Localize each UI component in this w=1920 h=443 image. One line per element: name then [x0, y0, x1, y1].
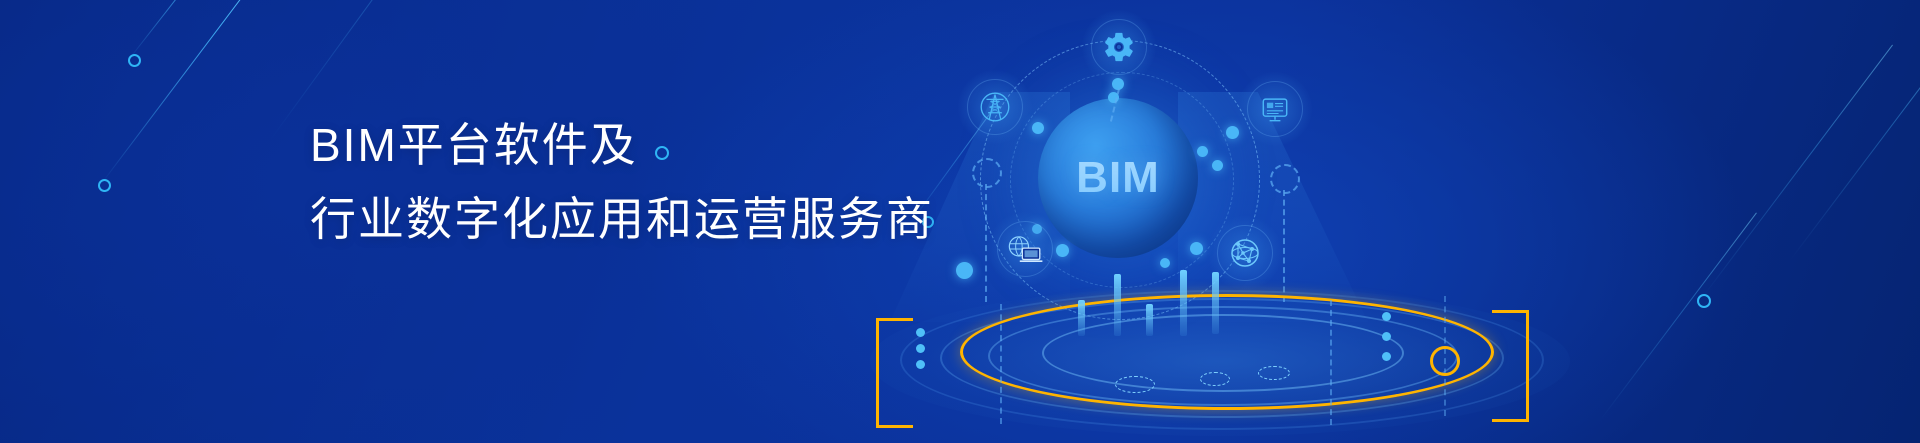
monitor-icon [1257, 91, 1293, 127]
node-globe-connector-dot [1056, 244, 1069, 257]
node-power-tower[interactable] [958, 70, 1032, 144]
hero-banner: BIM平台软件及 行业数字化应用和运营服务商 BIM [0, 0, 1920, 443]
vertical-dash-left [1000, 304, 1002, 424]
data-bar-5 [1212, 272, 1219, 334]
mini-ellipse-1 [1115, 376, 1155, 393]
decor-line-2-endpoint [98, 179, 111, 192]
node-gear[interactable] [1082, 10, 1156, 84]
data-bar-4 [1180, 270, 1187, 336]
stem-circle-left [972, 158, 1002, 188]
mini-ellipse-2 [1200, 372, 1230, 386]
vertical-dash-right [1330, 300, 1332, 425]
network-sphere-icon [1225, 233, 1265, 273]
stem-left [985, 184, 987, 302]
headline-line-2: 行业数字化应用和运营服务商 [310, 182, 934, 256]
indicator-dot-left-3 [916, 360, 925, 369]
power-tower-icon [976, 88, 1014, 126]
stem-right [1283, 190, 1285, 302]
node-power-tower-connector-dot [1032, 122, 1044, 134]
bim-illustration: BIM [860, 0, 1920, 443]
node-monitor[interactable] [1238, 72, 1312, 146]
indicator-dot-right-1 [1382, 312, 1391, 321]
base-gold-ring [960, 294, 1494, 410]
globe-laptop-icon [1005, 232, 1045, 266]
base-dot-accent [956, 262, 973, 279]
sphere-dot-right [1197, 146, 1208, 157]
node-network-connector-dot [1190, 242, 1203, 255]
indicator-dot-right-3 [1382, 352, 1391, 361]
data-bar-3 [1146, 304, 1153, 336]
bim-sphere: BIM [1038, 98, 1198, 258]
stem-circle-right [1270, 164, 1300, 194]
node-monitor-connector-dot [1226, 126, 1239, 139]
indicator-dot-right-2 [1382, 332, 1391, 341]
headline-line-1: BIM平台软件及 [310, 108, 934, 182]
mini-ellipse-3 [1258, 366, 1290, 380]
headline-block: BIM平台软件及 行业数字化应用和运营服务商 [310, 108, 934, 256]
gold-circle-marker [1430, 346, 1460, 376]
data-bar-1 [1078, 300, 1085, 336]
bracket-right [1492, 310, 1529, 422]
indicator-dot-left-1 [916, 328, 925, 337]
node-monitor-satellite-dot [1212, 160, 1223, 171]
bim-sphere-label: BIM [1038, 98, 1198, 258]
gear-icon [1102, 30, 1136, 64]
decor-line-1-endpoint [128, 54, 141, 67]
data-bar-2 [1114, 274, 1121, 336]
sphere-dot-bottom [1160, 258, 1170, 268]
bracket-left [876, 318, 913, 428]
node-network[interactable] [1208, 216, 1282, 290]
indicator-dot-left-2 [916, 344, 925, 353]
node-globe-laptop[interactable] [988, 212, 1062, 286]
